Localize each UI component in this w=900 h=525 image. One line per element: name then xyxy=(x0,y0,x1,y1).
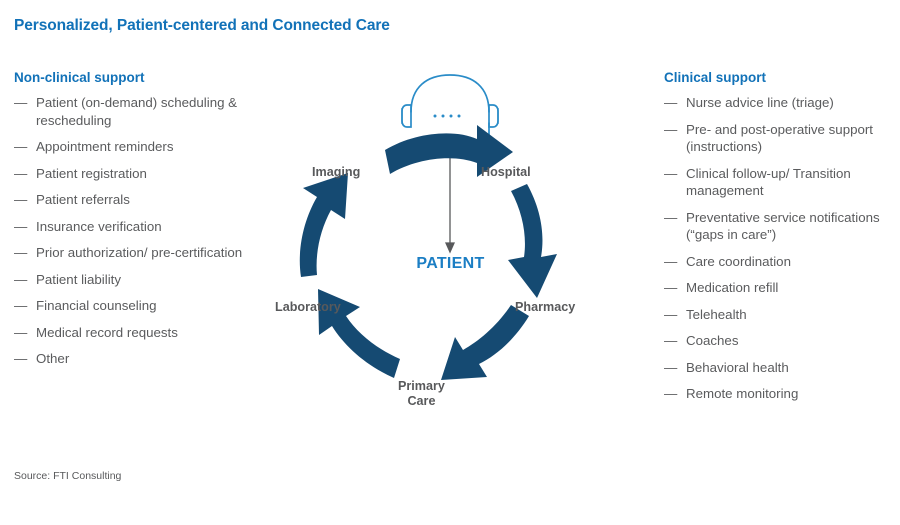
list-item: —Nurse advice line (triage) xyxy=(664,94,900,112)
list-item: —Patient registration xyxy=(14,165,269,183)
dash-bullet-icon: — xyxy=(664,165,677,183)
list-item-label: Appointment reminders xyxy=(36,139,173,154)
list-item-label: Clinical follow-up/ Transition managemen… xyxy=(686,166,851,199)
list-item-label: Financial counseling xyxy=(36,298,156,313)
dash-bullet-icon: — xyxy=(14,271,27,289)
list-item: —Remote monitoring xyxy=(664,385,900,403)
dash-bullet-icon: — xyxy=(664,306,677,324)
dash-bullet-icon: — xyxy=(14,218,27,236)
list-item-label: Preventative service notifications (“gap… xyxy=(686,210,880,243)
list-item: —Clinical follow-up/ Transition manageme… xyxy=(664,165,900,200)
source-note: Source: FTI Consulting xyxy=(14,470,121,482)
dash-bullet-icon: — xyxy=(14,297,27,315)
list-item-label: Telehealth xyxy=(686,307,747,322)
patient-connector-line xyxy=(446,148,454,252)
dash-bullet-icon: — xyxy=(14,138,27,156)
list-item: —Patient referrals xyxy=(14,191,269,209)
node-label-hospital: Hospital xyxy=(481,165,531,179)
list-item-label: Patient liability xyxy=(36,272,121,287)
arrow-hospital-to-pharmacy xyxy=(508,184,557,298)
arrow-pharmacy-to-primary-care xyxy=(441,305,529,380)
list-item: —Patient (on-demand) scheduling & resche… xyxy=(14,94,269,129)
dash-bullet-icon: — xyxy=(14,324,27,342)
list-item-label: Remote monitoring xyxy=(686,386,798,401)
list-item: —Coaches xyxy=(664,332,900,350)
list-item: —Medical record requests xyxy=(14,324,269,342)
dash-bullet-icon: — xyxy=(14,94,27,112)
dash-bullet-icon: — xyxy=(664,332,677,350)
headset-dots-icon xyxy=(434,115,461,118)
dash-bullet-icon: — xyxy=(664,279,677,297)
slide-canvas: Personalized, Patient-centered and Conne… xyxy=(0,0,900,525)
list-item-label: Patient (on-demand) scheduling & resched… xyxy=(36,95,237,128)
clinical-support-heading: Clinical support xyxy=(664,70,900,85)
list-item: —Patient liability xyxy=(14,271,269,289)
list-item: —Telehealth xyxy=(664,306,900,324)
arrow-laboratory-to-imaging xyxy=(300,173,348,277)
list-item-label: Prior authorization/ pre-certification xyxy=(36,245,242,260)
clinical-support-list: —Nurse advice line (triage) —Pre- and po… xyxy=(664,94,900,403)
page-title: Personalized, Patient-centered and Conne… xyxy=(14,17,390,35)
list-item-label: Other xyxy=(36,351,69,366)
list-item: —Other xyxy=(14,350,269,368)
list-item: —Appointment reminders xyxy=(14,138,269,156)
node-label-primary-care: Primary Care xyxy=(398,379,445,409)
node-label-pharmacy: Pharmacy xyxy=(515,300,575,314)
list-item: —Prior authorization/ pre-certification xyxy=(14,244,269,262)
clinical-support-column: Clinical support —Nurse advice line (tri… xyxy=(664,70,900,412)
care-cycle-svg xyxy=(265,55,635,435)
cycle-arrows xyxy=(300,125,557,380)
node-label-primary-care-line2: Care xyxy=(398,394,445,409)
list-item: —Behavioral health xyxy=(664,359,900,377)
list-item: —Care coordination xyxy=(664,253,900,271)
dash-bullet-icon: — xyxy=(14,350,27,368)
dash-bullet-icon: — xyxy=(664,209,677,227)
list-item: —Financial counseling xyxy=(14,297,269,315)
list-item-label: Patient referrals xyxy=(36,192,130,207)
list-item-label: Nurse advice line (triage) xyxy=(686,95,834,110)
dash-bullet-icon: — xyxy=(14,244,27,262)
list-item: —Pre- and post-operative support (instru… xyxy=(664,121,900,156)
patient-center-label: PATIENT xyxy=(398,255,503,273)
list-item: —Preventative service notifications (“ga… xyxy=(664,209,900,244)
list-item-label: Medical record requests xyxy=(36,325,178,340)
node-label-primary-care-line1: Primary xyxy=(398,379,445,394)
dash-bullet-icon: — xyxy=(664,94,677,112)
node-label-laboratory: Laboratory xyxy=(275,300,341,314)
list-item-label: Behavioral health xyxy=(686,360,789,375)
list-item: —Medication refill xyxy=(664,279,900,297)
list-item-label: Care coordination xyxy=(686,254,791,269)
dash-bullet-icon: — xyxy=(664,253,677,271)
list-item-label: Coaches xyxy=(686,333,738,348)
dash-bullet-icon: — xyxy=(14,165,27,183)
dash-bullet-icon: — xyxy=(14,191,27,209)
non-clinical-support-list: —Patient (on-demand) scheduling & resche… xyxy=(14,94,269,368)
dash-bullet-icon: — xyxy=(664,385,677,403)
dash-bullet-icon: — xyxy=(664,121,677,139)
non-clinical-support-heading: Non-clinical support xyxy=(14,70,269,85)
list-item-label: Insurance verification xyxy=(36,219,162,234)
list-item: —Insurance verification xyxy=(14,218,269,236)
list-item-label: Patient registration xyxy=(36,166,147,181)
care-cycle-diagram: Imaging Hospital Pharmacy Laboratory Pri… xyxy=(265,55,635,435)
node-label-imaging: Imaging xyxy=(312,165,360,179)
non-clinical-support-column: Non-clinical support —Patient (on-demand… xyxy=(14,70,269,377)
list-item-label: Medication refill xyxy=(686,280,778,295)
dash-bullet-icon: — xyxy=(664,359,677,377)
list-item-label: Pre- and post-operative support (instruc… xyxy=(686,122,873,155)
